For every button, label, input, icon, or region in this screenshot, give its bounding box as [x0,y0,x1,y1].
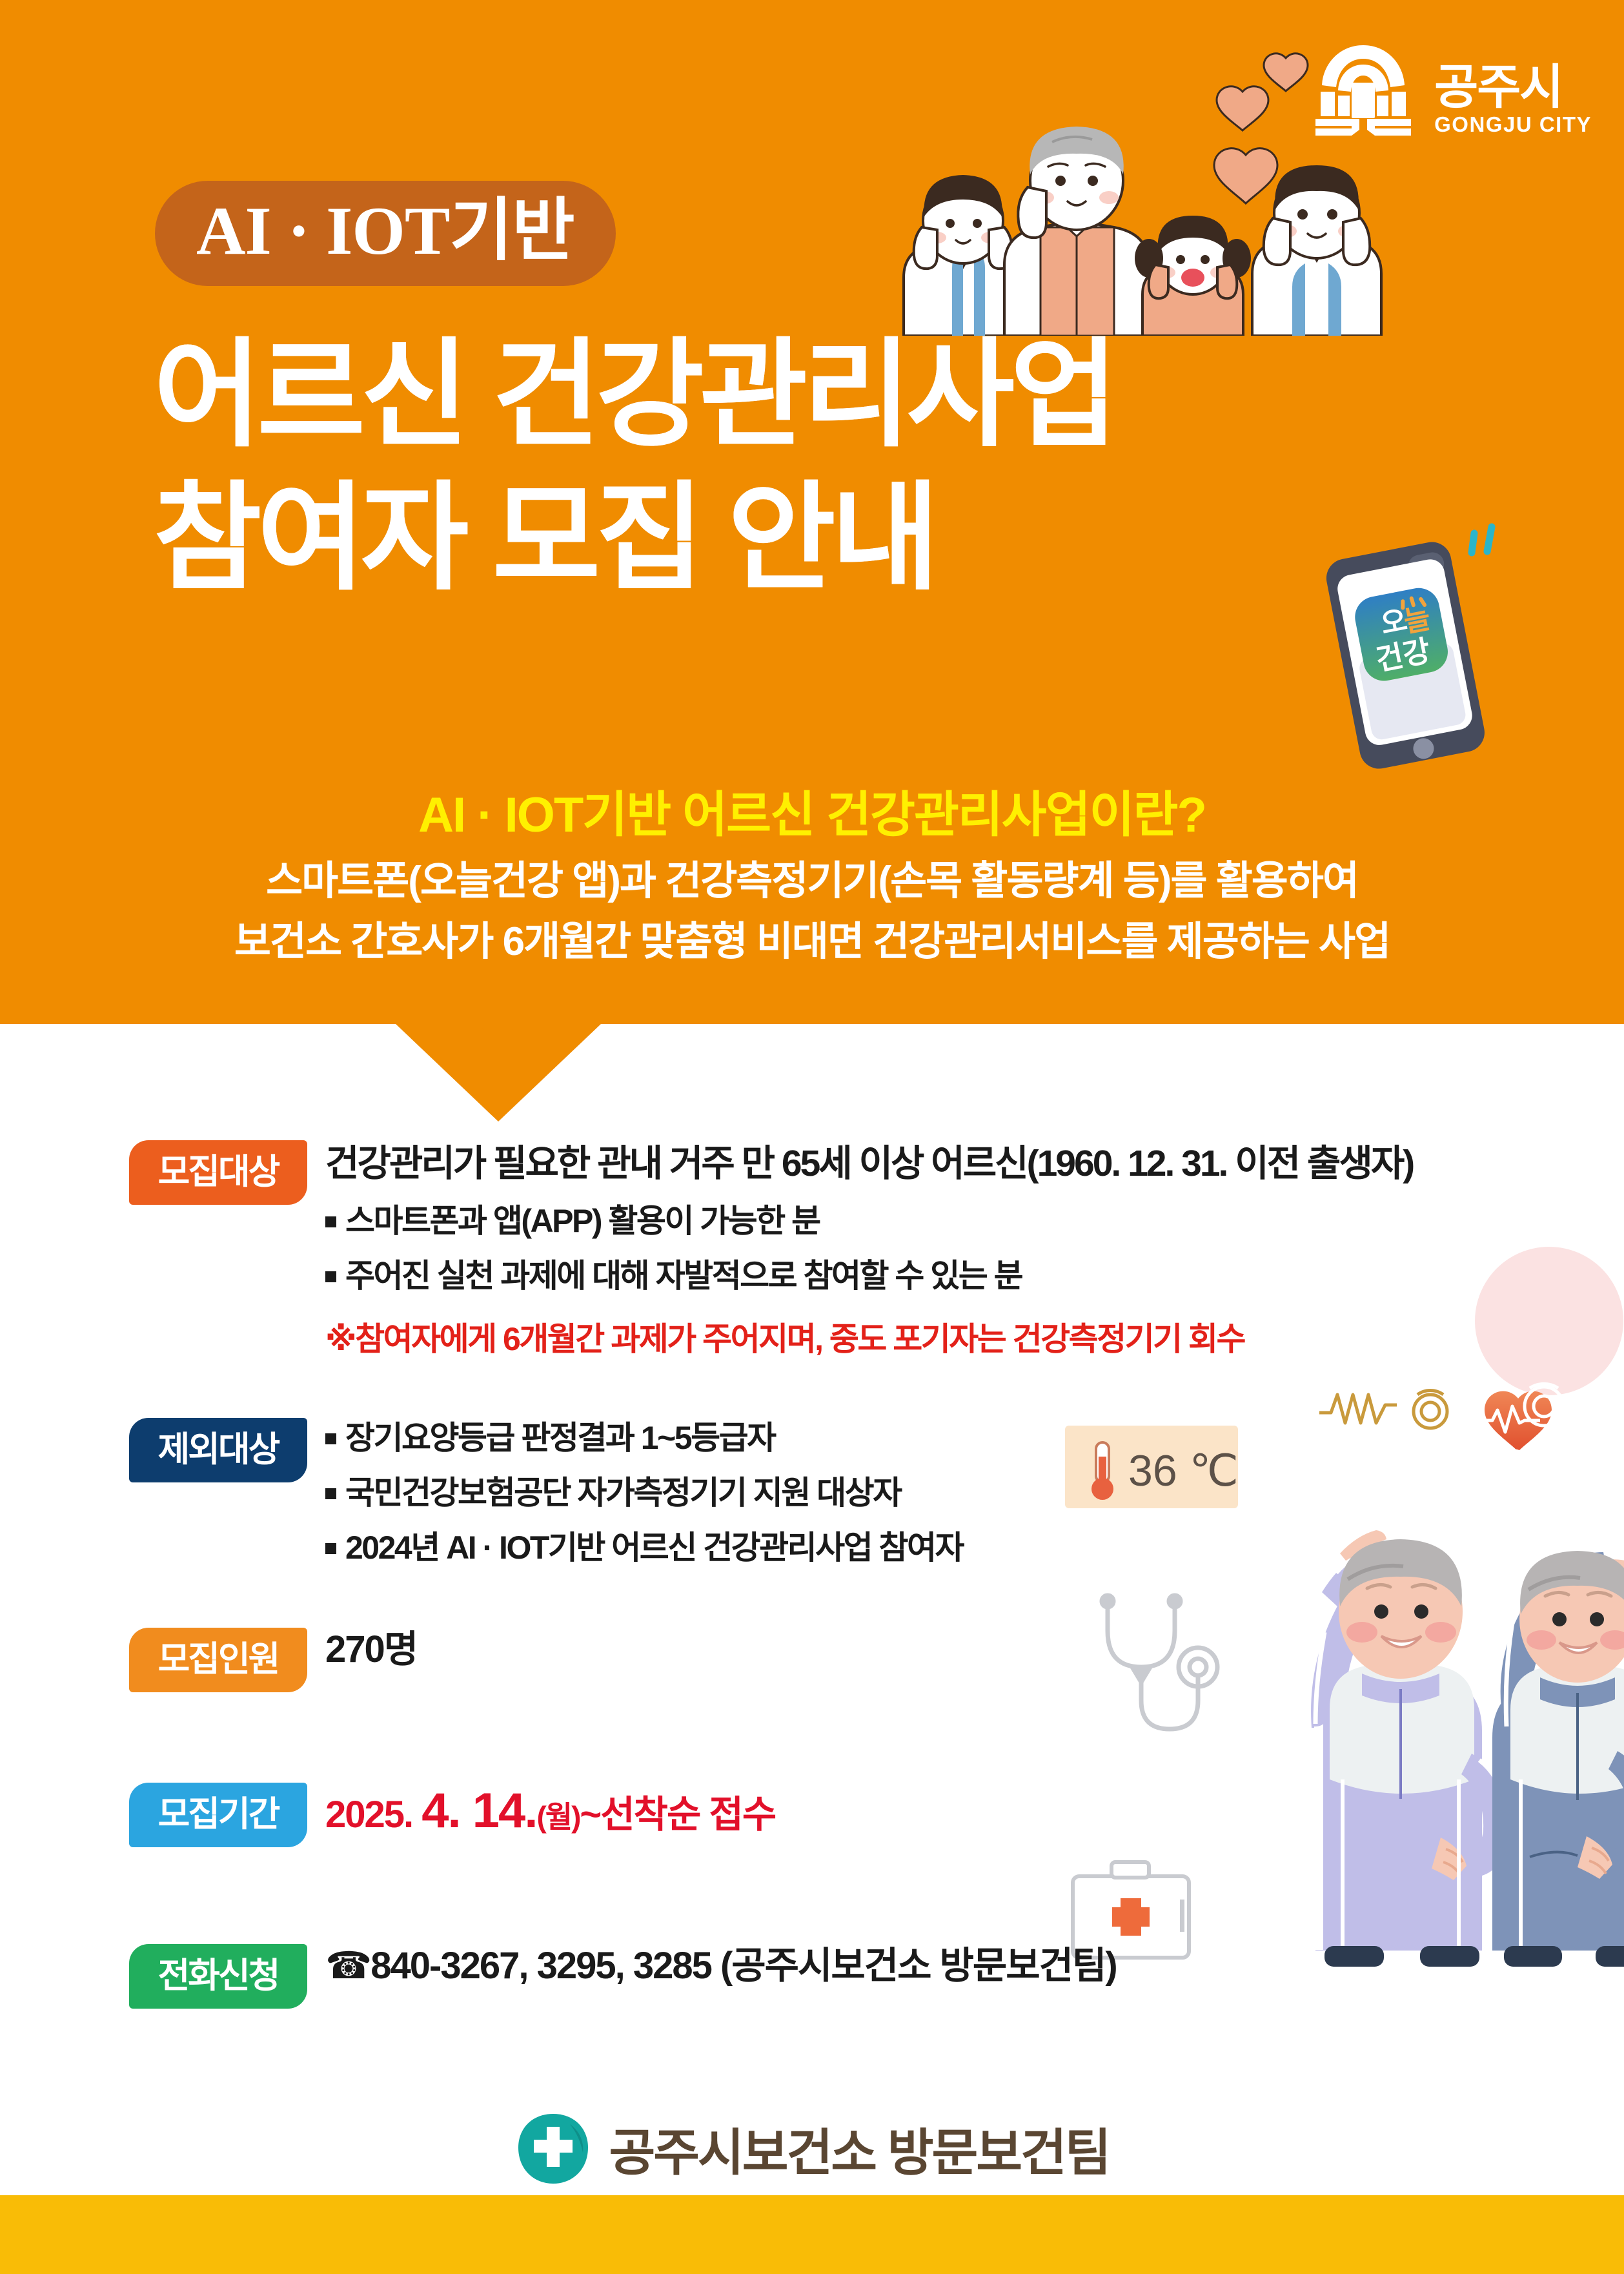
period-year: 2025. [325,1794,412,1836]
recruit-bullet-2-text: 주어진 실천 과제에 대해 자발적으로 참여할 수 있는 분 [345,1257,1022,1295]
exclude-bullet-3: 2024년 AI · IOT기반 어르신 건강관리사업 참여자 [325,1529,963,1567]
period-weekday: (월) [536,1800,580,1834]
badge-phone-application: 전화신청 [129,1944,307,2009]
poster-footer: 공주시보건소 방문보건팀 [0,2102,1624,2195]
exclude-bullet-1-text: 장기요양등급 판정결과 1~5등급자 [345,1419,775,1457]
health-center-cross-icon [514,2110,592,2187]
bullet-square-icon [325,1488,336,1499]
subtitle-desc-line-2: 보건소 간호사가 6개월간 맞춤형 비대면 건강관리서비스를 제공하는 사업 [0,912,1624,972]
elderly-man-stretching [1492,1551,1624,1967]
recruit-bullet-1: 스마트폰과 앱(APP) 활용이 가능한 분 [325,1202,1413,1240]
badge-recruit-count: 모집인원 [129,1628,307,1692]
bullet-square-icon [325,1433,336,1444]
eyebrow-label: AI · IOT기반 [196,195,574,267]
phone-application-value[interactable]: ☎840-3267, 3295, 3285 (공주시보건소 방문보건팀) [325,1945,1117,1987]
exclude-bullet-1: 장기요양등급 판정결과 1~5등급자 [325,1419,963,1457]
eyebrow-pill: AI · IOT기반 [155,181,616,286]
poster-body: 36 ℃ [0,1024,1624,2196]
badge-recruit-target: 모집대상 [129,1140,307,1205]
row-phone-application: 전화신청 ☎840-3267, 3295, 3285 (공주시보건소 방문보건팀… [129,1944,1117,2009]
recruit-bullet-2: 주어진 실천 과제에 대해 자발적으로 참여할 수 있는 분 [325,1257,1413,1295]
badge-recruit-period: 모집기간 [129,1783,307,1847]
stethoscope-icon [1102,1595,1217,1729]
thermometer-icon: 36 ℃ [1065,1426,1239,1508]
bullet-square-icon [325,1271,336,1282]
title-line-2: 참여자 모집 안내 [154,466,1114,609]
family-grandfather [1004,127,1149,336]
svg-text:99: 99 [1504,1442,1548,1486]
row-exclusion-target: 제외대상 장기요양등급 판정결과 1~5등급자 국민건강보험공단 자가측정기기 … [129,1418,963,1567]
svg-text:36 ℃: 36 ℃ [1128,1446,1239,1495]
exclude-bullet-3-text: 2024년 AI · IOT기반 어르신 건강관리사업 참여자 [345,1529,963,1567]
ecg-wave-icon [1319,1390,1447,1428]
sparkle-icon [1472,527,1492,553]
family-man [1252,165,1381,336]
recruit-period-value: 2025. 4. 14.(월)~선착순 접수 [325,1784,775,1838]
bottom-accent-bar [0,2195,1624,2274]
recruit-bullet-1-text: 스마트폰과 앱(APP) 활용이 가능한 분 [345,1202,820,1240]
recruit-period-body: 2025. 4. 14.(월)~선착순 접수 [325,1783,775,1838]
family-illustration [891,52,1394,336]
badge-exclusion-target: 제외대상 [129,1418,307,1482]
heart-pulse-icon: 99 [1479,1384,1563,1486]
title-line-1: 어르신 건강관리사업 [154,323,1114,466]
subtitle-description: 스마트폰(오늘건강 앱)과 건강측정기기(손목 활동량계 등)를 활용하여 보건… [0,851,1624,972]
subtitle-desc-line-1: 스마트폰(오늘건강 앱)과 건강측정기기(손목 활동량계 등)를 활용하여 [0,851,1624,912]
smartphone-mockup: 오 늘 건강 [1309,522,1503,780]
exclusion-target-body: 장기요양등급 판정결과 1~5등급자 국민건강보험공단 자가측정기기 지원 대상… [325,1418,963,1567]
city-name-en: GONGJU CITY [1434,112,1592,137]
row-recruit-period: 모집기간 2025. 4. 14.(월)~선착순 접수 [129,1783,775,1847]
family-girl [1135,216,1251,336]
subtitle-question: AI · IOT기반 어르신 건강관리사업이란? [0,775,1624,846]
city-name-ko: 공주시 [1434,65,1562,110]
period-tail: ~선착순 접수 [580,1794,775,1836]
phone-application-body: ☎840-3267, 3295, 3285 (공주시보건소 방문보건팀) [325,1944,1117,1987]
footer-org-name: 공주시보건소 방문보건팀 [609,2113,1109,2185]
recruit-count-value: 270명 [325,1629,417,1670]
first-aid-kit-icon [1073,1862,1189,1958]
exercise-illustration: 36 ℃ [1059,1366,1624,1967]
recruit-note: ※참여자에게 6개월간 과제가 주어지며, 중도 포기자는 건강측정기기 회수 [325,1313,1413,1360]
recruit-count-body: 270명 [325,1628,417,1670]
bullet-square-icon [325,1543,336,1554]
poster-header: 공주시 GONGJU CITY [0,0,1624,1024]
recruit-target-lead: 건강관리가 필요한 관내 거주 만 65세 이상 어르신(1960. 12. 3… [325,1142,1413,1185]
bullet-square-icon [325,1216,336,1227]
row-recruit-target: 모집대상 건강관리가 필요한 관내 거주 만 65세 이상 어르신(1960. … [129,1140,1413,1360]
elderly-woman-stretching [1311,1530,1508,1967]
period-month-day: 4. 14. [421,1783,536,1838]
row-recruit-count: 모집인원 270명 [129,1628,417,1692]
recruit-target-body: 건강관리가 필요한 관내 거주 만 65세 이상 어르신(1960. 12. 3… [325,1140,1413,1360]
poster: 공주시 GONGJU CITY [0,0,1624,2274]
exclude-bullet-2: 국민건강보험공단 자가측정기기 지원 대상자 [325,1474,963,1512]
exclude-bullet-2-text: 국민건강보험공단 자가측정기기 지원 대상자 [345,1474,901,1512]
page-title: 어르신 건강관리사업 참여자 모집 안내 [154,323,1114,609]
